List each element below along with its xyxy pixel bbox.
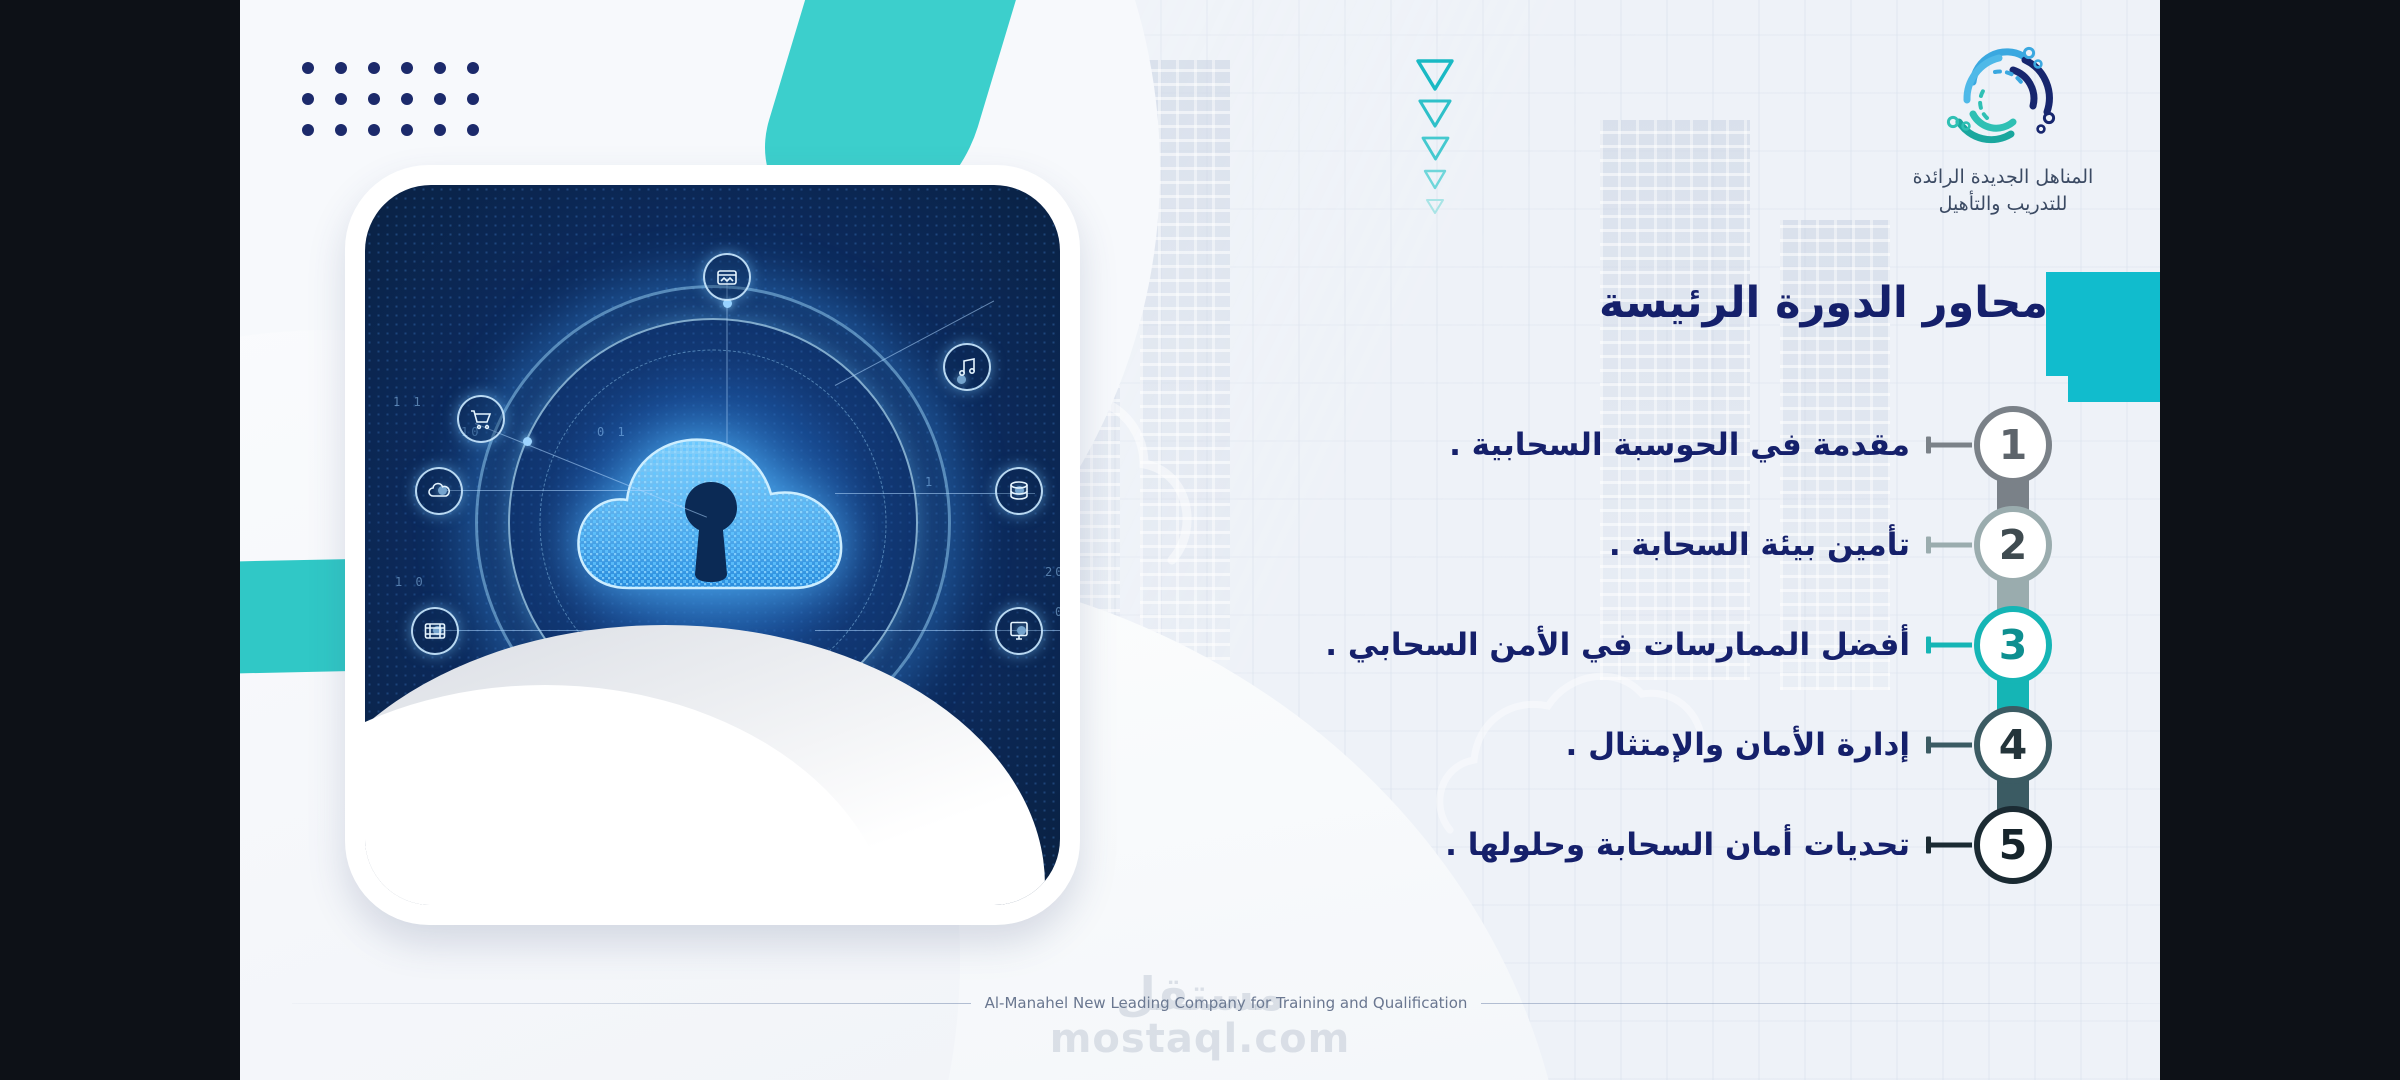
- topic-row-5[interactable]: 5 تحديات أمان السحابة وحلولها .: [1072, 795, 2052, 895]
- triangle-down-icon: [1420, 135, 1451, 162]
- presentation-slide: 1 1 10 0 1 1 0 10 001 1 20 0 1 1 0: [240, 0, 2160, 1080]
- hero-image-card: 1 1 10 0 1 1 0 10 001 1 20 0 1 1 0: [345, 165, 1080, 925]
- cloud-upload-icon: [415, 467, 463, 515]
- topic-connector-1: [1926, 443, 1972, 448]
- topic-number-3[interactable]: 3: [1974, 606, 2052, 684]
- slide-footer: Al-Manahel New Leading Company for Train…: [292, 994, 2160, 1012]
- topic-label-1: مقدمة في الحوسبة السحابية .: [1449, 427, 1910, 463]
- cloud-with-keyhole-icon: [563, 418, 863, 628]
- topic-label-5: تحديات أمان السحابة وحلولها .: [1445, 827, 1910, 863]
- topic-connector-5: [1926, 843, 1972, 848]
- triangle-down-icon: [1424, 197, 1446, 216]
- connection-wire: [445, 490, 655, 491]
- dot-grid-icon: [302, 62, 485, 142]
- wire-node-dot: [523, 437, 532, 446]
- video-film-icon: [411, 607, 459, 655]
- manahel-swirl-logo-icon: [1908, 38, 2098, 156]
- company-name-line1: المناهل الجديدة الرائدة: [1908, 164, 2098, 191]
- photo-folder-icon: [703, 253, 751, 301]
- topic-row-4[interactable]: 4 إدارة الأمان والإمتثال .: [1072, 695, 2052, 795]
- triangle-down-icon: [1422, 168, 1448, 191]
- footer-divider-right: [1481, 1003, 2160, 1004]
- topic-number-1[interactable]: 1: [1974, 406, 2052, 484]
- topic-connector-3: [1926, 643, 1972, 648]
- topic-number-5[interactable]: 5: [1974, 806, 2052, 884]
- teal-right-accent: [2068, 272, 2160, 402]
- topic-connector-2: [1926, 543, 1972, 548]
- topic-number-2[interactable]: 2: [1974, 506, 2052, 584]
- page-title: محاور الدورة الرئيسة: [1599, 278, 2048, 328]
- topic-label-4: إدارة الأمان والإمتثال .: [1566, 727, 1910, 763]
- triangle-down-icon: [1415, 58, 1455, 92]
- course-topics-timeline: 1 مقدمة في الحوسبة السحابية . 2 تأمين بي…: [1072, 395, 2052, 895]
- screenshot-stage: 1 1 10 0 1 1 0 10 001 1 20 0 1 1 0: [0, 0, 2400, 1080]
- triangle-decoration-group: [1415, 58, 1455, 222]
- company-name-line2: للتدريب والتأهيل: [1908, 191, 2098, 218]
- topic-label-3: أفضل الممارسات في الأمن السحابي .: [1325, 627, 1910, 663]
- company-logo: المناهل الجديدة الرائدة للتدريب والتأهيل: [1908, 38, 2098, 218]
- server-database-icon: [995, 467, 1043, 515]
- topic-row-2[interactable]: 2 تأمين بيئة السحابة .: [1072, 495, 2052, 595]
- shopping-cart-icon: [457, 395, 505, 443]
- footer-divider-left: [292, 1003, 971, 1004]
- topic-label-2: تأمين بيئة السحابة .: [1609, 527, 1910, 563]
- footer-text: Al-Manahel New Leading Company for Train…: [985, 994, 1468, 1012]
- topic-connector-4: [1926, 743, 1972, 748]
- topic-number-4[interactable]: 4: [1974, 706, 2052, 784]
- monitor-screen-icon: [995, 607, 1043, 655]
- music-note-icon: [943, 343, 991, 391]
- triangle-down-icon: [1417, 98, 1453, 129]
- topic-row-1[interactable]: 1 مقدمة في الحوسبة السحابية .: [1072, 395, 2052, 495]
- cloud-security-illustration: 1 1 10 0 1 1 0 10 001 1 20 0 1 1 0: [365, 185, 1060, 905]
- topic-row-3[interactable]: 3 أفضل الممارسات في الأمن السحابي .: [1072, 595, 2052, 695]
